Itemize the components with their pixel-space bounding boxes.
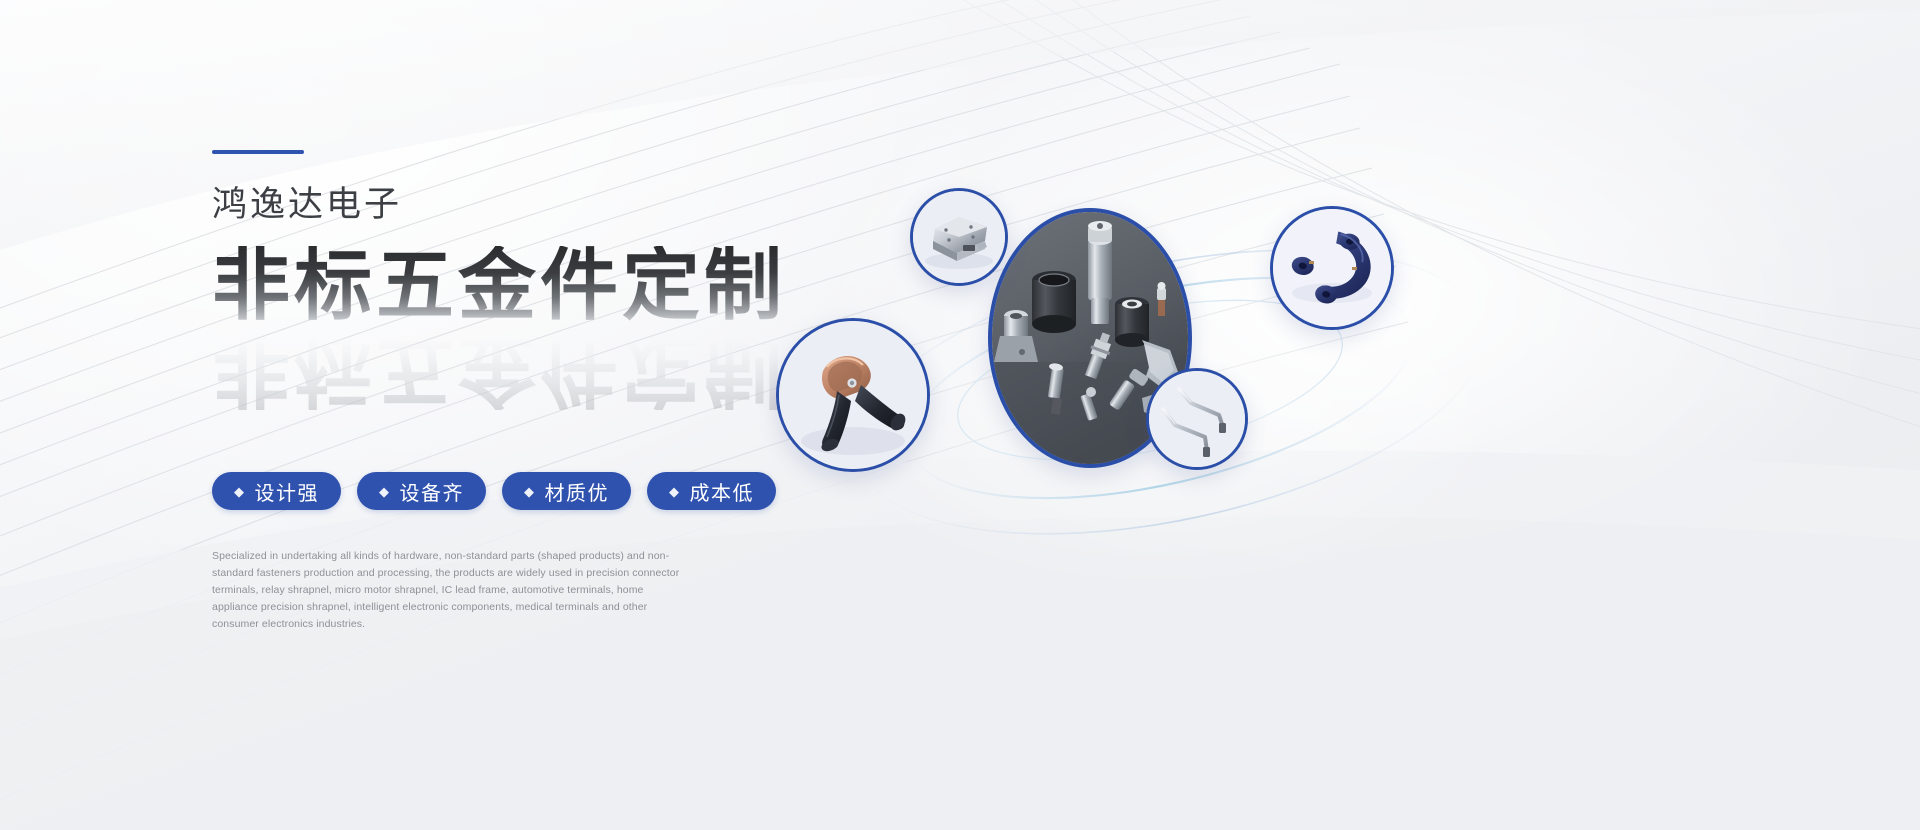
hero-banner: 鸿逸达电子 非标五金件定制 非标五金件定制 ◆ 设计强 ◆ 设备齐 ◆ 材质优 … [0,0,1920,830]
product-cluster [760,150,1920,690]
stamped-shield-box-image [913,191,1005,283]
product-bubble-battery-clamp[interactable] [776,318,930,472]
diamond-icon: ◆ [234,485,246,498]
feature-badge-label: 材质优 [545,477,610,506]
feature-badge-label: 设备齐 [400,477,465,506]
feature-badge-design[interactable]: ◆ 设计强 [212,472,341,510]
feature-badge-label: 设计强 [255,477,320,506]
diamond-icon: ◆ [379,485,391,498]
diamond-icon: ◆ [669,485,681,498]
diamond-icon: ◆ [524,485,536,498]
product-bubble-bent-metal-pins[interactable] [1146,368,1248,470]
bent-metal-pins-image [1149,371,1245,467]
headline-reflection: 非标五金件定制 [212,332,786,410]
product-bubble-snap-retaining-ring[interactable] [1270,206,1394,330]
battery-clamp-image [779,321,927,469]
snap-retaining-ring-image [1273,209,1391,327]
accent-bar [212,150,304,154]
feature-badge-label: 成本低 [690,477,755,506]
product-bubble-stamped-shield-box[interactable] [910,188,1008,286]
feature-badge-list: ◆ 设计强 ◆ 设备齐 ◆ 材质优 ◆ 成本低 [212,472,776,510]
feature-badge-equipment[interactable]: ◆ 设备齐 [357,472,486,510]
company-description: Specialized in undertaking all kinds of … [212,548,682,633]
feature-badge-cost[interactable]: ◆ 成本低 [647,472,776,510]
feature-badge-material[interactable]: ◆ 材质优 [502,472,631,510]
